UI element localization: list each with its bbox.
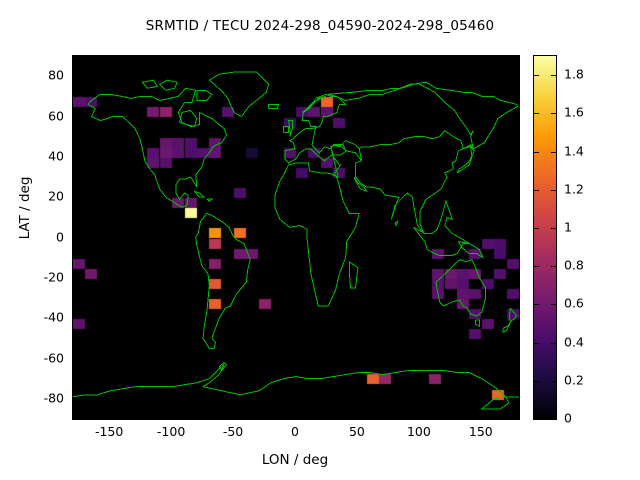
colorbar-tick-mark [551, 190, 556, 191]
coastline-path [209, 72, 268, 116]
coastline-path [503, 320, 512, 332]
colorbar-tick-label: 1.2 [564, 181, 584, 196]
colorbar-tick-mark [534, 152, 539, 153]
colorbar-tick-label: 1.6 [564, 105, 584, 120]
coastline-path [302, 96, 326, 112]
colorbar-tick-label: 0.2 [564, 372, 584, 387]
y-tick-label: 40 [20, 148, 64, 163]
coastline-path [142, 80, 157, 88]
colorbar-tick-label: 1 [564, 219, 572, 234]
coastline-path [284, 127, 289, 133]
y-tick-label: 60 [20, 108, 64, 123]
y-tick-label: -80 [20, 390, 64, 405]
coastline-path [160, 80, 177, 90]
colorbar-gradient [534, 56, 556, 419]
colorbar-tick-mark [551, 304, 556, 305]
y-tick-label: -20 [20, 269, 64, 284]
colorbar-tick-mark [534, 343, 539, 344]
coastline-path [395, 221, 398, 225]
coastline-path [73, 365, 519, 409]
page-title: SRMTID / TECU 2024-298_04590-2024-298_05… [0, 18, 640, 34]
x-tick-label: 0 [291, 424, 299, 439]
coastline-path [436, 260, 486, 316]
y-tick-label: 0 [20, 229, 64, 244]
colorbar [533, 55, 557, 420]
coastline-path [476, 320, 480, 326]
coastline-path [275, 163, 359, 306]
colorbar-tick-label: 1.8 [564, 67, 584, 82]
colorbar-tick-mark [551, 381, 556, 382]
colorbar-tick-mark [534, 113, 539, 114]
colorbar-tick-label: 0.8 [564, 258, 584, 273]
colorbar-tick-label: 0.6 [564, 296, 584, 311]
colorbar-tick-label: 1.4 [564, 143, 584, 158]
colorbar-tick-mark [534, 381, 539, 382]
coastline-path [285, 94, 362, 177]
coastline-path [349, 262, 358, 288]
map-axes [72, 55, 520, 420]
x-tick-label: 100 [407, 424, 431, 439]
colorbar-tick-mark [551, 419, 556, 420]
colorbar-tick-mark [551, 228, 556, 229]
colorbar-tick-mark [534, 304, 539, 305]
x-tick-label: 50 [349, 424, 365, 439]
colorbar-tick-mark [534, 419, 539, 420]
colorbar-tick-mark [551, 75, 556, 76]
coastline-path [196, 213, 251, 348]
colorbar-tick-mark [551, 343, 556, 344]
x-tick-label: -150 [95, 424, 123, 439]
x-tick-label: -50 [223, 424, 243, 439]
coastline-path [197, 90, 212, 100]
y-tick-label: 80 [20, 68, 64, 83]
colorbar-tick-label: 0.4 [564, 334, 584, 349]
coastline-path [328, 82, 518, 233]
coastline-path [194, 191, 204, 197]
coastline-path [207, 199, 212, 201]
x-tick-label: -100 [157, 424, 185, 439]
colorbar-tick-mark [551, 266, 556, 267]
colorbar-tick-label: 0 [564, 411, 572, 426]
coastline-path [509, 308, 516, 320]
coastline-path [458, 242, 483, 258]
colorbar-tick-mark [534, 228, 539, 229]
y-tick-label: -60 [20, 350, 64, 365]
colorbar-tick-mark [534, 266, 539, 267]
colorbar-tick-mark [551, 113, 556, 114]
coastline-path [269, 104, 279, 108]
coastline-path [289, 121, 293, 137]
y-tick-label: 20 [20, 189, 64, 204]
coastline-overlay [73, 56, 519, 419]
x-axis-label: LON / deg [0, 452, 590, 468]
x-tick-label: 150 [469, 424, 493, 439]
colorbar-tick-mark [534, 75, 539, 76]
colorbar-tick-mark [551, 152, 556, 153]
plot-root: SRMTID / TECU 2024-298_04590-2024-298_05… [0, 0, 640, 480]
colorbar-tick-mark [534, 190, 539, 191]
coastline-path [354, 177, 366, 191]
coastline-path [180, 110, 197, 126]
y-tick-label: -40 [20, 310, 64, 325]
coastline-path [88, 88, 227, 207]
